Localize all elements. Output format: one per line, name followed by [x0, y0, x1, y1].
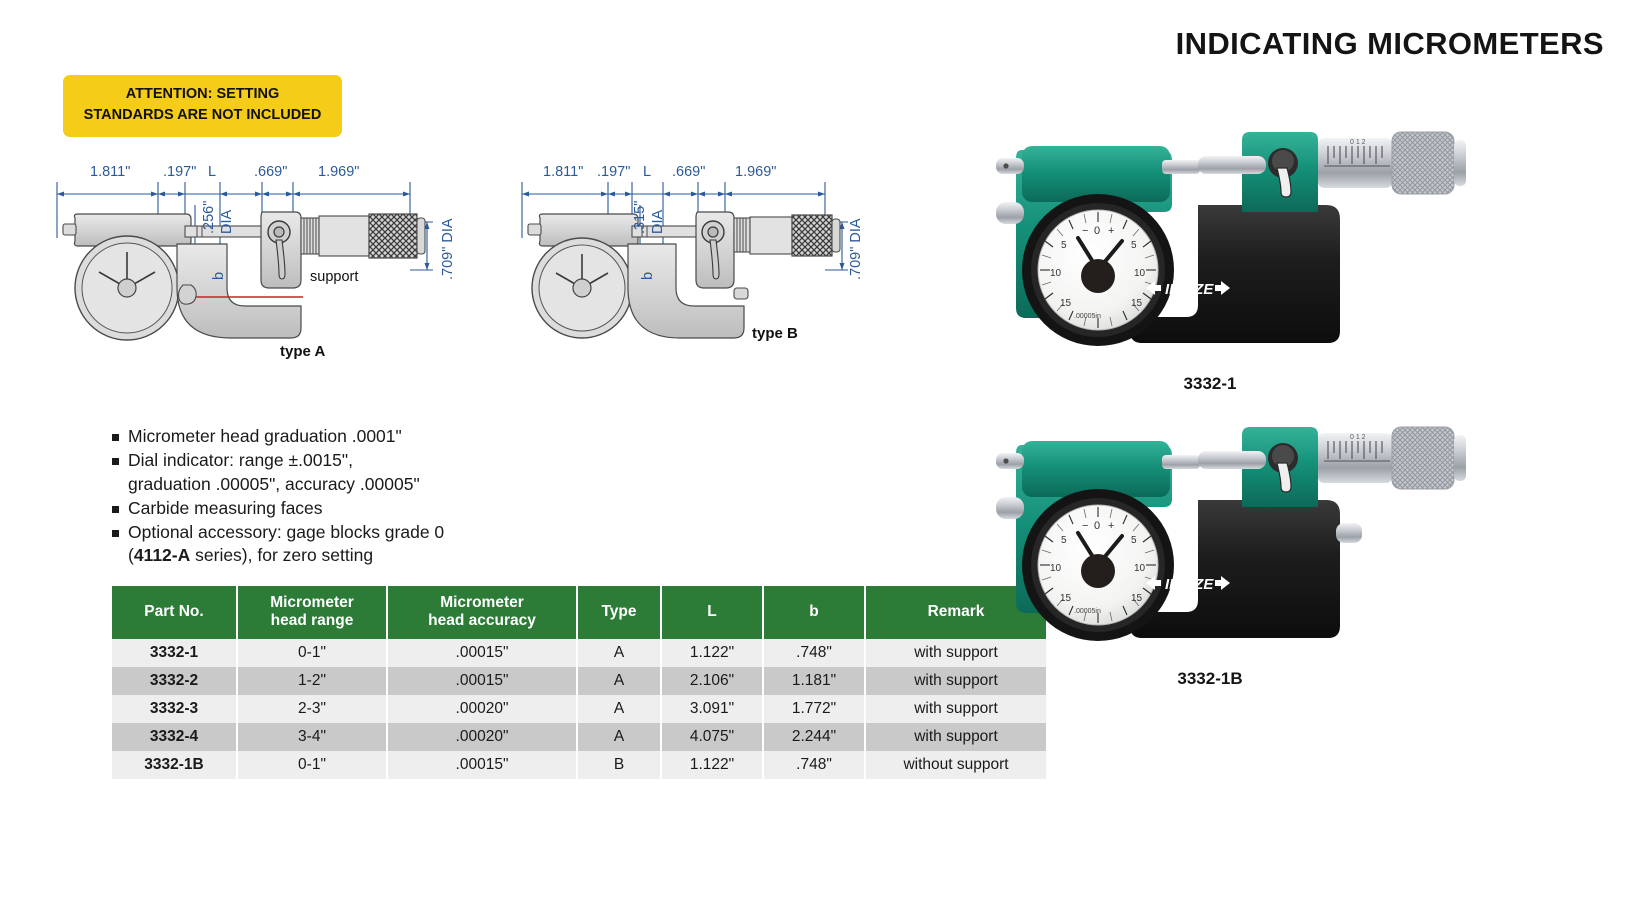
col-header-accuracy-line2: head accuracy	[428, 612, 536, 629]
type-a-dim-197: .197"	[163, 164, 196, 180]
cell-b: 2.244"	[763, 723, 865, 751]
table-body: 3332-10-1".00015"A1.122".748"with suppor…	[112, 639, 1046, 779]
svg-text:+: +	[1108, 225, 1114, 237]
cell-b: .748"	[763, 639, 865, 667]
cell-l: 1.122"	[661, 751, 763, 779]
product-label-3332-1B: 3332-1B	[950, 669, 1470, 689]
cell-type: A	[577, 667, 661, 695]
bullet-square-icon	[112, 506, 119, 513]
svg-text:−: −	[1082, 520, 1088, 532]
type-b-dim-b: b	[640, 272, 656, 280]
cell-range: 2-3"	[237, 695, 387, 723]
type-b-caption: type B	[752, 325, 798, 342]
cell-remark: with support	[865, 723, 1046, 751]
svg-text:+: +	[1108, 520, 1114, 532]
feature-text: Dial indicator: range ±.0015", graduatio…	[128, 449, 420, 496]
feature-text: Micrometer head graduation .0001"	[128, 425, 402, 448]
type-b-dim-1811: 1.811"	[543, 164, 583, 180]
feature-line-1: Dial indicator: range ±.0015",	[128, 450, 353, 470]
type-b-dim-bore-unit: DIA	[650, 210, 666, 234]
page-title: INDICATING MICROMETERS	[1176, 26, 1604, 62]
col-header-range-line2: head range	[271, 612, 354, 629]
type-a-dim-bore-unit: DIA	[219, 210, 235, 234]
svg-text:10: 10	[1050, 563, 1062, 574]
type-a-dim-L: L	[208, 164, 216, 180]
type-a-caption: type A	[280, 343, 325, 360]
attention-line-1: ATTENTION: SETTING	[69, 84, 336, 105]
cell-remark: without support	[865, 751, 1046, 779]
svg-text:0: 0	[1094, 225, 1100, 237]
svg-text:5: 5	[1131, 535, 1137, 546]
cell-l: 4.075"	[661, 723, 763, 751]
type-b-dim-197: .197"	[597, 164, 630, 180]
cell-type: A	[577, 695, 661, 723]
col-header-range: Micrometer head range	[237, 586, 387, 639]
feature-list: Micrometer head graduation .0001" Dial i…	[112, 425, 542, 569]
specifications-table: Part No. Micrometer head range Micromete…	[112, 586, 1046, 779]
cell-accuracy: .00015"	[387, 667, 577, 695]
feature-series-bold: 4112-A	[134, 545, 190, 565]
feature-line-2-suffix: series), for zero setting	[190, 545, 373, 565]
type-a-support-callout: support	[310, 269, 358, 285]
svg-text:10: 10	[1134, 563, 1146, 574]
list-item: Dial indicator: range ±.0015", graduatio…	[112, 449, 542, 496]
col-header-accuracy: Micrometer head accuracy	[387, 586, 577, 639]
type-b-drawing	[520, 160, 920, 400]
micrometer-illustration: 0 1 2	[950, 110, 1470, 365]
attention-banner: ATTENTION: SETTING STANDARDS ARE NOT INC…	[63, 75, 342, 137]
feature-line-1: Optional accessory: gage blocks grade 0	[128, 522, 444, 542]
col-header-l-label: L	[707, 603, 716, 620]
cell-range: 0-1"	[237, 639, 387, 667]
type-b-dim-1969: 1.969"	[735, 164, 776, 180]
type-b-dim-669: .669"	[672, 164, 705, 180]
type-a-dim-1811: 1.811"	[90, 164, 130, 180]
product-label-3332-1: 3332-1	[950, 374, 1470, 394]
cell-range: 3-4"	[237, 723, 387, 751]
svg-text:−: −	[1082, 225, 1088, 237]
product-photo-3332-1: 0 1 2	[950, 110, 1470, 410]
bullet-square-icon	[112, 530, 119, 537]
table-row: 3332-21-2".00015"A2.106"1.181"with suppo…	[112, 667, 1046, 695]
table-row: 3332-43-4".00020"A4.075"2.244"with suppo…	[112, 723, 1046, 751]
svg-text:15: 15	[1060, 593, 1072, 604]
feature-line-2: graduation .00005", accuracy .00005"	[128, 474, 420, 494]
cell-type: B	[577, 751, 661, 779]
svg-text:10: 10	[1134, 268, 1146, 279]
col-header-b-label: b	[809, 603, 818, 620]
table-row: 3332-10-1".00015"A1.122".748"with suppor…	[112, 639, 1046, 667]
type-b-dim-od: .709" DIA	[848, 218, 864, 280]
svg-text:15: 15	[1060, 298, 1072, 309]
cell-b: 1.772"	[763, 695, 865, 723]
col-header-b: b	[763, 586, 865, 639]
cell-part: 3332-1	[112, 639, 237, 667]
col-header-type: Type	[577, 586, 661, 639]
cell-part: 3332-1B	[112, 751, 237, 779]
svg-text:5: 5	[1061, 535, 1067, 546]
type-a-dim-669: .669"	[254, 164, 287, 180]
svg-text:INSIZE: INSIZE	[1165, 281, 1214, 298]
col-header-range-line1: Micrometer	[270, 594, 354, 611]
col-header-l: L	[661, 586, 763, 639]
cell-range: 0-1"	[237, 751, 387, 779]
list-item: Micrometer head graduation .0001"	[112, 425, 542, 448]
list-item: Carbide measuring faces	[112, 497, 542, 520]
svg-text:0 1 2: 0 1 2	[1350, 434, 1366, 441]
cell-l: 2.106"	[661, 667, 763, 695]
type-b-dim-bore: .315"	[632, 201, 648, 234]
svg-text:15: 15	[1131, 298, 1143, 309]
cell-accuracy: .00020"	[387, 695, 577, 723]
table-header-row: Part No. Micrometer head range Micromete…	[112, 586, 1046, 639]
svg-text:10: 10	[1050, 268, 1062, 279]
cell-l: 1.122"	[661, 639, 763, 667]
cell-part: 3332-3	[112, 695, 237, 723]
svg-text:15: 15	[1131, 593, 1143, 604]
dial-graduation-text: .00005in	[1074, 313, 1101, 320]
svg-text:5: 5	[1061, 240, 1067, 251]
cell-part: 3332-4	[112, 723, 237, 751]
cell-accuracy: .00020"	[387, 723, 577, 751]
bullet-square-icon	[112, 458, 119, 465]
cell-accuracy: .00015"	[387, 639, 577, 667]
svg-text:5: 5	[1131, 240, 1137, 251]
cell-b: .748"	[763, 751, 865, 779]
list-item: Optional accessory: gage blocks grade 0 …	[112, 521, 542, 568]
technical-drawings: 1.811" .197" L .669" 1.969" .256" DIA b …	[0, 150, 960, 390]
table-row: 3332-1B0-1".00015"B1.122".748"without su…	[112, 751, 1046, 779]
type-a-dim-b: b	[211, 272, 227, 280]
svg-text:INSIZE: INSIZE	[1165, 576, 1214, 593]
cell-accuracy: .00015"	[387, 751, 577, 779]
cell-type: A	[577, 723, 661, 751]
cell-b: 1.181"	[763, 667, 865, 695]
bullet-square-icon	[112, 434, 119, 441]
type-a-dim-bore: .256"	[201, 201, 217, 234]
product-photo-3332-1B: 0 1 2 − 0 +	[950, 405, 1470, 705]
svg-text:0 1 2: 0 1 2	[1350, 139, 1366, 146]
cell-part: 3332-2	[112, 667, 237, 695]
cell-l: 3.091"	[661, 695, 763, 723]
cell-range: 1-2"	[237, 667, 387, 695]
col-header-accuracy-line1: Micrometer	[440, 594, 524, 611]
col-header-part-no-label: Part No.	[144, 603, 203, 620]
dial-graduation-text: .00005in	[1074, 608, 1101, 615]
cell-type: A	[577, 639, 661, 667]
attention-line-2: STANDARDS ARE NOT INCLUDED	[69, 105, 336, 126]
type-a-drawing	[55, 160, 535, 400]
col-header-part-no: Part No.	[112, 586, 237, 639]
feature-text: Carbide measuring faces	[128, 497, 323, 520]
type-b-dim-L: L	[643, 164, 651, 180]
micrometer-illustration: 0 1 2 − 0 +	[950, 405, 1470, 660]
type-a-dim-1969: 1.969"	[318, 164, 359, 180]
table-header: Part No. Micrometer head range Micromete…	[112, 586, 1046, 639]
feature-text: Optional accessory: gage blocks grade 0 …	[128, 521, 444, 568]
table-row: 3332-32-3".00020"A3.091"1.772"with suppo…	[112, 695, 1046, 723]
type-a-dim-od: .709" DIA	[440, 218, 456, 280]
col-header-type-label: Type	[601, 603, 636, 620]
svg-text:0: 0	[1094, 520, 1100, 532]
